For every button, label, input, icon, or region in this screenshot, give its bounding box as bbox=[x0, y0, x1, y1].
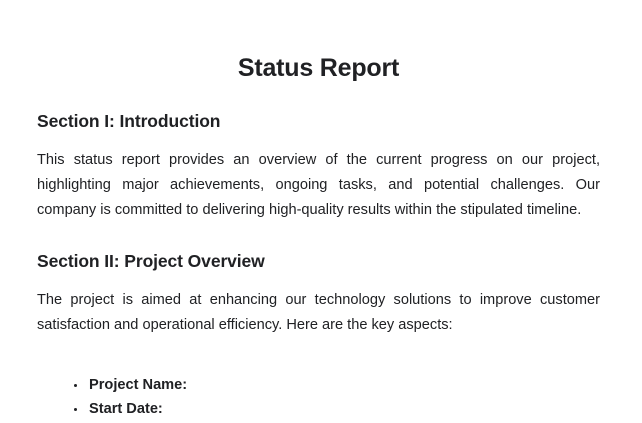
section-paragraph-introduction: This status report provides an overview … bbox=[37, 148, 600, 223]
document-page: Status Report Section I: Introduction Th… bbox=[0, 0, 642, 423]
page-title: Status Report bbox=[37, 0, 600, 83]
key-aspects-list: Project Name: Start Date: Estimated Comp… bbox=[37, 373, 600, 423]
section-paragraph-project-overview: The project is aimed at enhancing our te… bbox=[37, 288, 600, 338]
section-heading-project-overview: Section II: Project Overview bbox=[37, 251, 600, 273]
paragraph-spacer bbox=[37, 338, 600, 363]
section-heading-introduction: Section I: Introduction bbox=[37, 111, 600, 133]
list-item: Start Date: bbox=[73, 397, 600, 421]
list-item: Project Name: bbox=[73, 373, 600, 397]
